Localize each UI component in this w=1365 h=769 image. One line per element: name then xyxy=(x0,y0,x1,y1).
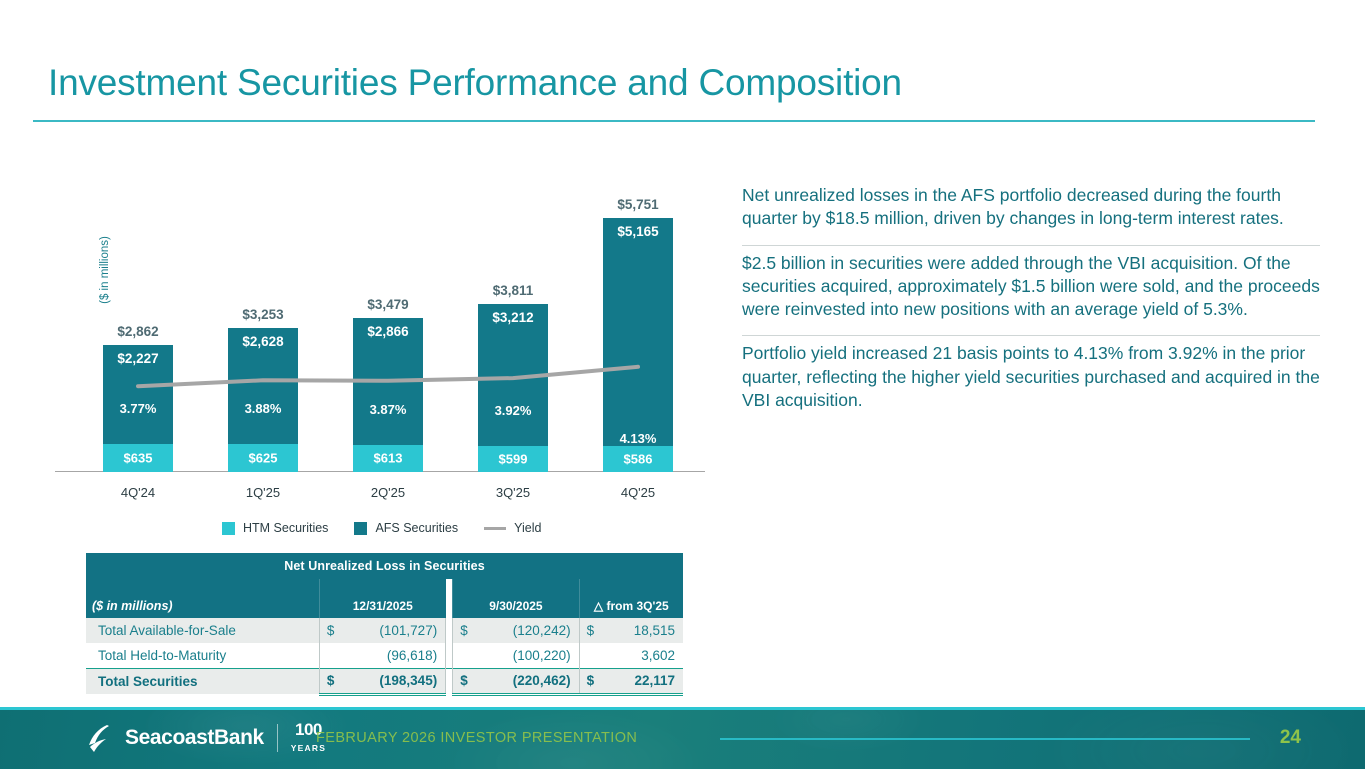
header-gap-1 xyxy=(446,579,453,618)
bar-yield-label: 3.92% xyxy=(478,403,548,418)
legend-swatch-htm-icon xyxy=(222,522,235,535)
row-label-held-to-maturity: Total Held-to-Maturity xyxy=(86,643,319,669)
bar-segment-afs-label: $2,866 xyxy=(353,324,423,339)
bar-group-4q25: $5,751$5,1654.13%$586 xyxy=(603,218,673,472)
logo-wordmark: SeacoastBank xyxy=(125,726,264,750)
footer-accent-rule xyxy=(720,738,1250,740)
cell-htm-9302025-currency xyxy=(453,643,477,669)
legend-label-afs: AFS Securities xyxy=(375,521,458,535)
cell-afs-delta-value: 18,515 xyxy=(603,618,683,643)
bar-total-label: $3,479 xyxy=(353,297,423,312)
bar-segment-htm-label: $625 xyxy=(228,451,298,466)
bar-yield-label: 4.13% xyxy=(603,431,673,446)
legend-label-htm: HTM Securities xyxy=(243,521,328,535)
bar-segment-afs: $2,8663.87% xyxy=(353,318,423,445)
page-title: Investment Securities Performance and Co… xyxy=(48,62,902,104)
cell-total-12312025-currency: $ xyxy=(319,669,343,695)
bar-segment-afs: $2,6283.88% xyxy=(228,328,298,444)
legend-item-yield: Yield xyxy=(484,521,541,535)
bar-total-label: $5,751 xyxy=(603,197,673,212)
cell-total-9302025-currency: $ xyxy=(453,669,477,695)
cell-total-9302025-value: (220,462) xyxy=(476,669,579,695)
table-header-row: ($ in millions) 12/31/2025 9/30/2025 △ f… xyxy=(86,579,683,618)
cell-htm-delta-value: 3,602 xyxy=(603,643,683,669)
row-gap xyxy=(446,669,453,695)
header-units: ($ in millions) xyxy=(86,579,319,618)
bar-segment-htm: $586 xyxy=(603,446,673,472)
bar-segment-htm-label: $586 xyxy=(603,452,673,467)
bar-yield-label: 3.88% xyxy=(228,401,298,416)
bar-total-label: $2,862 xyxy=(103,324,173,339)
legend-swatch-afs-icon xyxy=(354,522,367,535)
bar-segment-afs-label: $5,165 xyxy=(603,224,673,239)
commentary-panel: Net unrealized losses in the AFS portfol… xyxy=(742,178,1320,426)
footer-top-accent-line xyxy=(0,707,1365,710)
bar-segment-htm: $635 xyxy=(103,444,173,472)
bar-segment-htm-label: $599 xyxy=(478,451,548,466)
cell-total-delta-value: 22,117 xyxy=(603,669,683,695)
table-total-row: Total Securities $ (198,345) $ (220,462)… xyxy=(86,669,683,695)
cell-afs-9302025-currency: $ xyxy=(453,618,477,643)
header-col-12-31-2025: 12/31/2025 xyxy=(319,579,445,618)
bar-segment-htm-label: $613 xyxy=(353,451,423,466)
header-col-9-30-2025: 9/30/2025 xyxy=(453,579,579,618)
bar-group-2q25: $3,479$2,8663.87%$613 xyxy=(353,318,423,472)
row-gap xyxy=(446,618,453,643)
table-title: Net Unrealized Loss in Securities xyxy=(86,553,683,579)
row-label-available-for-sale: Total Available-for-Sale xyxy=(86,618,319,643)
row-gap xyxy=(446,643,453,669)
legend-label-yield: Yield xyxy=(514,521,541,535)
bar-segment-afs: $2,2273.77% xyxy=(103,345,173,443)
cell-afs-12312025-currency: $ xyxy=(319,618,343,643)
cell-htm-9302025-value: (100,220) xyxy=(476,643,579,669)
bar-segment-afs: $3,2123.92% xyxy=(478,304,548,446)
bar-segment-htm: $625 xyxy=(228,444,298,472)
header-col-delta-3q25: △ from 3Q'25 xyxy=(579,579,683,618)
x-axis-tick-4q24: 4Q'24 xyxy=(103,485,173,500)
cell-afs-9302025-value: (120,242) xyxy=(476,618,579,643)
x-axis-tick-2q25: 2Q'25 xyxy=(353,485,423,500)
bar-group-3q25: $3,811$3,2123.92%$599 xyxy=(478,304,548,473)
bar-group-4q24: $2,862$2,2273.77%$635 xyxy=(103,345,173,472)
chart-legend: HTM Securities AFS Securities Yield xyxy=(222,521,541,535)
footer-presentation-label: FEBRUARY 2026 INVESTOR PRESENTATION xyxy=(316,730,637,746)
bar-group-1q25: $3,253$2,6283.88%$625 xyxy=(228,328,298,472)
bar-yield-label: 3.87% xyxy=(353,402,423,417)
cell-htm-12312025-value: (96,618) xyxy=(343,643,446,669)
x-axis-tick-4q25: 4Q'25 xyxy=(603,485,673,500)
cell-afs-delta-currency: $ xyxy=(579,618,603,643)
cell-htm-delta-currency xyxy=(579,643,603,669)
legend-item-afs: AFS Securities xyxy=(354,521,458,535)
page-number: 24 xyxy=(1280,727,1301,749)
bar-total-label: $3,811 xyxy=(478,283,548,298)
bar-segment-htm: $613 xyxy=(353,445,423,472)
x-axis-tick-1q25: 1Q'25 xyxy=(228,485,298,500)
bar-segment-htm-label: $635 xyxy=(103,450,173,465)
x-axis-tick-3q25: 3Q'25 xyxy=(478,485,548,500)
table-title-row: Net Unrealized Loss in Securities xyxy=(86,553,683,579)
bar-yield-label: 3.77% xyxy=(103,401,173,416)
cell-htm-12312025-currency xyxy=(319,643,343,669)
commentary-note-2: $2.5 billion in securities were added th… xyxy=(742,246,1320,336)
bar-segment-afs-label: $2,628 xyxy=(228,334,298,349)
cell-total-delta-currency: $ xyxy=(579,669,603,695)
commentary-note-1: Net unrealized losses in the AFS portfol… xyxy=(742,178,1320,245)
bar-segment-htm: $599 xyxy=(478,446,548,472)
page-footer: SeacoastBank 100 YEARS FEBRUARY 2026 INV… xyxy=(0,707,1365,769)
legend-item-htm: HTM Securities xyxy=(222,521,328,535)
securities-composition-chart: ($ in millions) $2,862$2,2273.77%$635$3,… xyxy=(55,150,715,510)
table-row: Total Held-to-Maturity (96,618) (100,220… xyxy=(86,643,683,669)
bar-segment-afs-label: $2,227 xyxy=(103,351,173,366)
cell-total-12312025-value: (198,345) xyxy=(343,669,446,695)
title-divider xyxy=(33,120,1315,122)
logo-divider xyxy=(277,724,278,752)
commentary-note-3: Portfolio yield increased 21 basis point… xyxy=(742,336,1320,426)
legend-line-yield-icon xyxy=(484,527,506,530)
bar-segment-afs: $5,1654.13% xyxy=(603,218,673,446)
bar-total-label: $3,253 xyxy=(228,307,298,322)
bar-segment-afs-label: $3,212 xyxy=(478,310,548,325)
seacoast-bank-logo: SeacoastBank 100 YEARS xyxy=(86,721,326,755)
cell-afs-12312025-value: (101,727) xyxy=(343,618,446,643)
row-label-total-securities: Total Securities xyxy=(86,669,319,695)
chart-y-axis-label: ($ in millions) xyxy=(99,210,111,330)
seacoast-sailfish-icon xyxy=(86,723,112,753)
net-unrealized-loss-table: Net Unrealized Loss in Securities ($ in … xyxy=(86,553,683,696)
table-row: Total Available-for-Sale $ (101,727) $ (… xyxy=(86,618,683,643)
